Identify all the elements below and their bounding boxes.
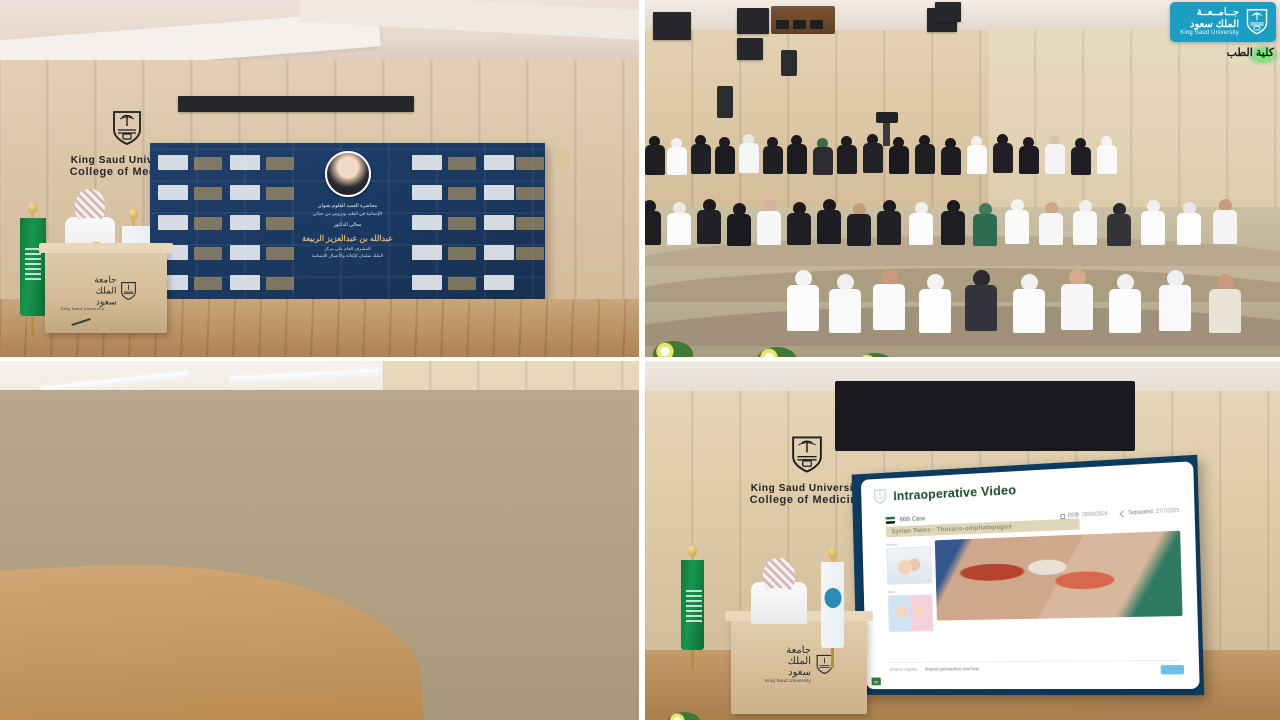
backdrop-honorific: معالي الدكتور <box>278 222 418 230</box>
presentation-screen: Intraoperative Video 66th Case Syrian Tw… <box>852 455 1205 696</box>
meta-dob-key: DOB <box>1068 512 1079 519</box>
wall-acoustic-panel <box>653 12 691 40</box>
wall-acoustic-panel <box>737 38 763 60</box>
speaker-portrait <box>325 151 371 197</box>
slide-page-number: 66 <box>872 678 881 686</box>
ksu-logo-badge: جــامــعــة الملك سعود King Saud Univers… <box>1170 2 1276 42</box>
saudi-national-flag <box>679 540 705 670</box>
meta-dob-value: 28/02/2024 <box>1082 511 1108 518</box>
case-number: 66th Case <box>900 516 926 523</box>
backdrop-headline-1: محاضرة العميد للعلوم بعنوان <box>278 203 418 211</box>
panel-presentation-screen: King Saud University College of Medicine… <box>645 361 1280 720</box>
backdrop-speaker-name: عبدالله بن عبدالعزيز الربيعة <box>278 234 418 243</box>
meta-separated-value: 27/7/2025 <box>1156 508 1180 515</box>
control-booth <box>771 6 835 34</box>
wall-speaker <box>717 86 733 118</box>
wall-fixture <box>556 150 570 168</box>
ceiling-speaker <box>781 50 797 76</box>
ksu-shield-icon <box>874 488 886 505</box>
panel-aerial-auditorium: King Saud University College of Medicine… <box>0 361 639 720</box>
speaker-at-podium <box>749 562 809 624</box>
king-saud-university-flag <box>819 542 845 668</box>
backdrop-title-1: المشرف العام على مركز <box>278 246 418 253</box>
stage-backdrop: محاضرة العميد للعلوم بعنوان الإنسانية في… <box>150 143 545 308</box>
panel-stage-podium: King Saud University College of Medicine <box>0 0 639 357</box>
scissors-icon <box>1119 510 1126 517</box>
intraoperative-video-frame[interactable] <box>935 531 1183 621</box>
podium-english-label: King Saud University <box>765 678 811 683</box>
podium-top-left: جامعة الملك سعود King Saud University <box>45 249 167 333</box>
slide-header: Intraoperative Video <box>874 472 1179 505</box>
ksu-shield-emblem-icon <box>791 435 823 474</box>
meta-dob: DOB 28/02/2024 <box>1060 511 1108 519</box>
photo-collage: King Saud University College of Medicine <box>0 0 1280 720</box>
slide-footer: Shared organs Shared pericardium and liv… <box>889 660 1179 672</box>
podium-arabic-label: جامعة الملك سعود <box>765 645 811 678</box>
podium-bottom-right: جامعة الملك سعود King Saud University <box>731 618 867 714</box>
camera-tripod <box>883 120 890 146</box>
panel-audience <box>645 0 1280 357</box>
case-title: Syrian Twins - Thoraco-omphalopagus <box>891 523 1012 535</box>
calendar-icon <box>1060 513 1065 518</box>
podium-shield-icon <box>121 282 137 301</box>
podium-arabic-label: جامعة الملك سعود <box>76 275 117 308</box>
meta-separated: Separated 27/7/2025 <box>1120 508 1180 517</box>
syria-flag-icon <box>886 517 895 524</box>
saudi-national-flag <box>18 196 48 336</box>
college-of-medicine-arabic-label: كلية الطب <box>1227 46 1274 59</box>
thumb-after-image <box>888 594 934 632</box>
podium-english-label: King Saud University <box>61 306 104 311</box>
media-row: Before After <box>886 531 1183 632</box>
slide-action-button[interactable] <box>1161 665 1185 674</box>
ksu-shield-icon <box>1246 8 1268 35</box>
wall-acoustic-panel <box>737 8 769 34</box>
wall-acoustic-panel <box>935 2 961 22</box>
slide-surface: Intraoperative Video 66th Case Syrian Tw… <box>861 461 1200 689</box>
thumb-before-image <box>886 546 932 584</box>
backdrop-headline-2: الإنسانية في الطب ودروس من حياتي <box>278 211 418 218</box>
footer-value: Shared pericardium and liver <box>925 666 980 671</box>
video-camera-icon <box>876 112 898 123</box>
badge-arabic-line1: جــامــعــة <box>1180 7 1239 19</box>
slide-title: Intraoperative Video <box>893 482 1016 503</box>
badge-english: King Saud University <box>1180 30 1239 37</box>
backdrop-shadow-strip <box>178 96 414 112</box>
thumbnails-column: Before After <box>886 540 933 632</box>
meta-separated-key: Separated <box>1128 509 1152 516</box>
footer-key: Shared organs <box>890 667 918 672</box>
backdrop-title-2: الملك سلمان للإغاثة والأعمال الإنسانية <box>278 253 418 260</box>
badge-text-block: جــامــعــة الملك سعود King Saud Univers… <box>1180 7 1239 37</box>
badge-arabic-line2: الملك سعود <box>1180 19 1239 31</box>
ksu-shield-emblem-icon <box>112 110 142 146</box>
backdrop-text-block: محاضرة العميد للعلوم بعنوان الإنسانية في… <box>278 151 418 259</box>
